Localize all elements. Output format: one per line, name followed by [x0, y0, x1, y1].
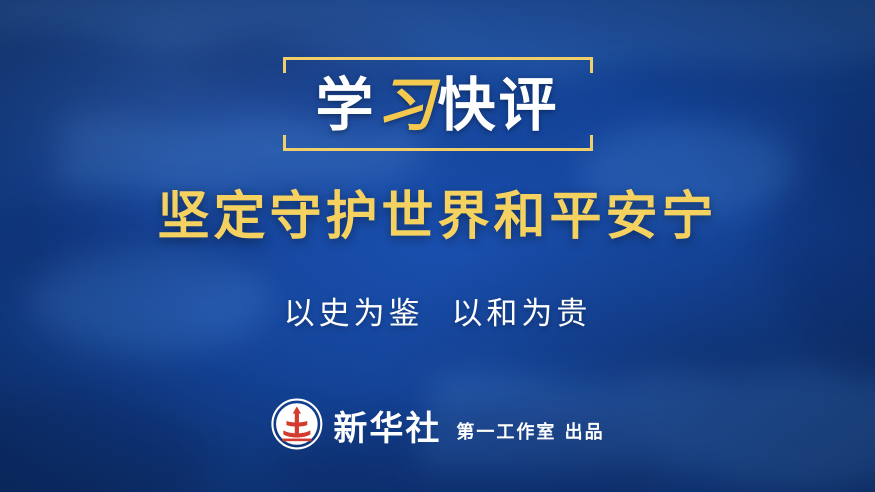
badge-title: 学习快评: [315, 76, 559, 134]
xinhua-logo-icon: [270, 398, 322, 450]
badge-title-highlight: 习: [376, 71, 437, 139]
headline-text: 坚定守护世界和平安宁: [0, 188, 875, 245]
badge-title-part-1: 学: [315, 71, 376, 139]
footer-attribution: 新华社 第一工作室 出品: [270, 398, 604, 450]
badge-corner-bottom-left: [283, 135, 286, 151]
badge-corner-top-left: [283, 57, 286, 73]
agency-name: 新华社: [333, 401, 441, 450]
badge-title-part-2: 快评: [438, 71, 560, 139]
badge-corner-top-right: [590, 57, 593, 73]
program-badge: 学习快评: [283, 57, 593, 151]
badge-corner-bottom-right: [590, 135, 593, 151]
badge-rule-bottom: [283, 148, 593, 151]
subtitle-text: 以史为鉴 以和为贵: [0, 296, 875, 333]
badge-rule-top: [283, 57, 593, 60]
studio-credit: 第一工作室 出品: [456, 418, 604, 444]
poster-image: 学习快评 坚定守护世界和平安宁 以史为鉴 以和为贵 新华社 第一工作室 出品: [0, 0, 875, 492]
